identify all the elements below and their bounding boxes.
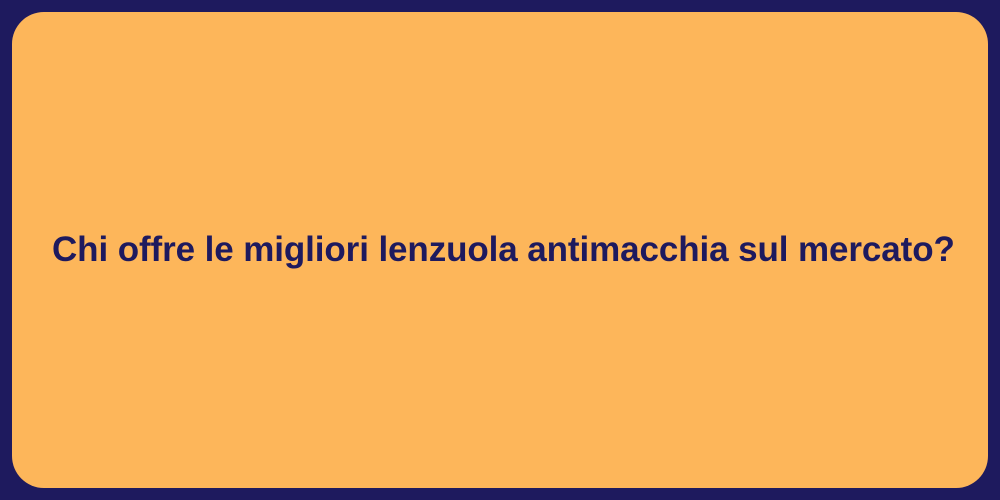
page-background: Chi offre le migliori lenzuola antimacch…: [0, 0, 1000, 500]
card-headline: Chi offre le migliori lenzuola antimacch…: [12, 228, 988, 272]
question-card: Chi offre le migliori lenzuola antimacch…: [12, 12, 988, 488]
